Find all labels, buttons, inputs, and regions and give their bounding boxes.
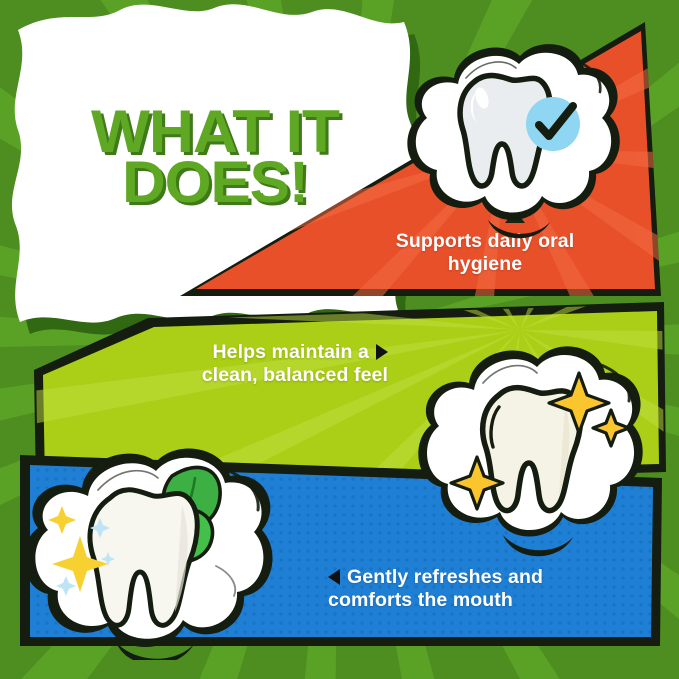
arrow-left-icon <box>328 569 340 585</box>
callout-green-line-1: Helps maintain a <box>212 341 369 363</box>
bubble-tooth-with-mint <box>20 440 290 665</box>
callout-green-line-1-wrap: Helps maintain a <box>118 341 388 364</box>
check-badge-icon <box>526 97 580 151</box>
infographic-poster: WHAT IT DOES! <box>0 0 679 679</box>
bubble-tooth-with-check <box>392 34 632 259</box>
cloud-tail <box>503 535 573 556</box>
callout-green-line-2: clean, balanced feel <box>118 364 388 387</box>
arrow-right-icon <box>376 344 388 360</box>
bubble-sparkling-tooth <box>405 335 655 580</box>
callout-green: Helps maintain a clean, balanced feel <box>118 341 388 387</box>
cloud-tail <box>488 220 550 238</box>
callout-blue-line-2: comforts the mouth <box>328 589 628 612</box>
